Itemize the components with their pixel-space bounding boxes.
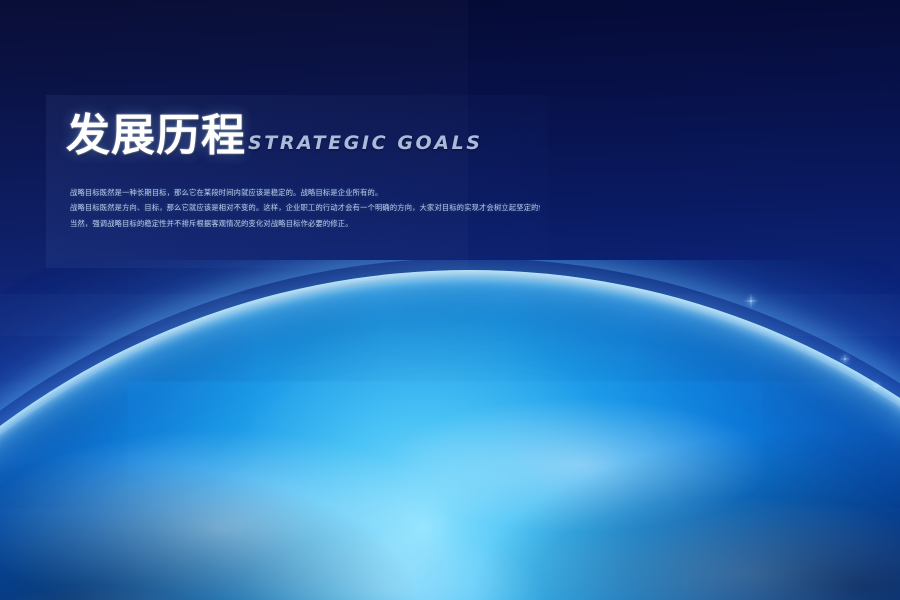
body-line: 战略目标既然是方向、目标，那么它就应该是相对不变的。这样，企业职工的行动才会有一…	[70, 203, 540, 213]
body-line: 战略目标既然是一种长期目标，那么它在某段时间内就应该是稳定的。战略目标是企业所有…	[70, 188, 540, 198]
earth-sphere	[0, 278, 900, 600]
strategic-goals-banner: 发展历程 STRATEGIC GOALS 战略目标既然是一种长期目标，那么它在某…	[0, 0, 900, 600]
page-subtitle: STRATEGIC GOALS	[248, 132, 483, 158]
body-copy: 战略目标既然是一种长期目标，那么它在某段时间内就应该是稳定的。战略目标是企业所有…	[70, 188, 540, 234]
headline-group: 发展历程 STRATEGIC GOALS	[66, 114, 483, 158]
page-title: 发展历程	[66, 114, 246, 158]
earth-container	[0, 260, 900, 600]
body-line: 当然，强调战略目标的稳定性并不排斥根据客观情况的变化对战略目标作必要的修正。	[70, 219, 540, 229]
